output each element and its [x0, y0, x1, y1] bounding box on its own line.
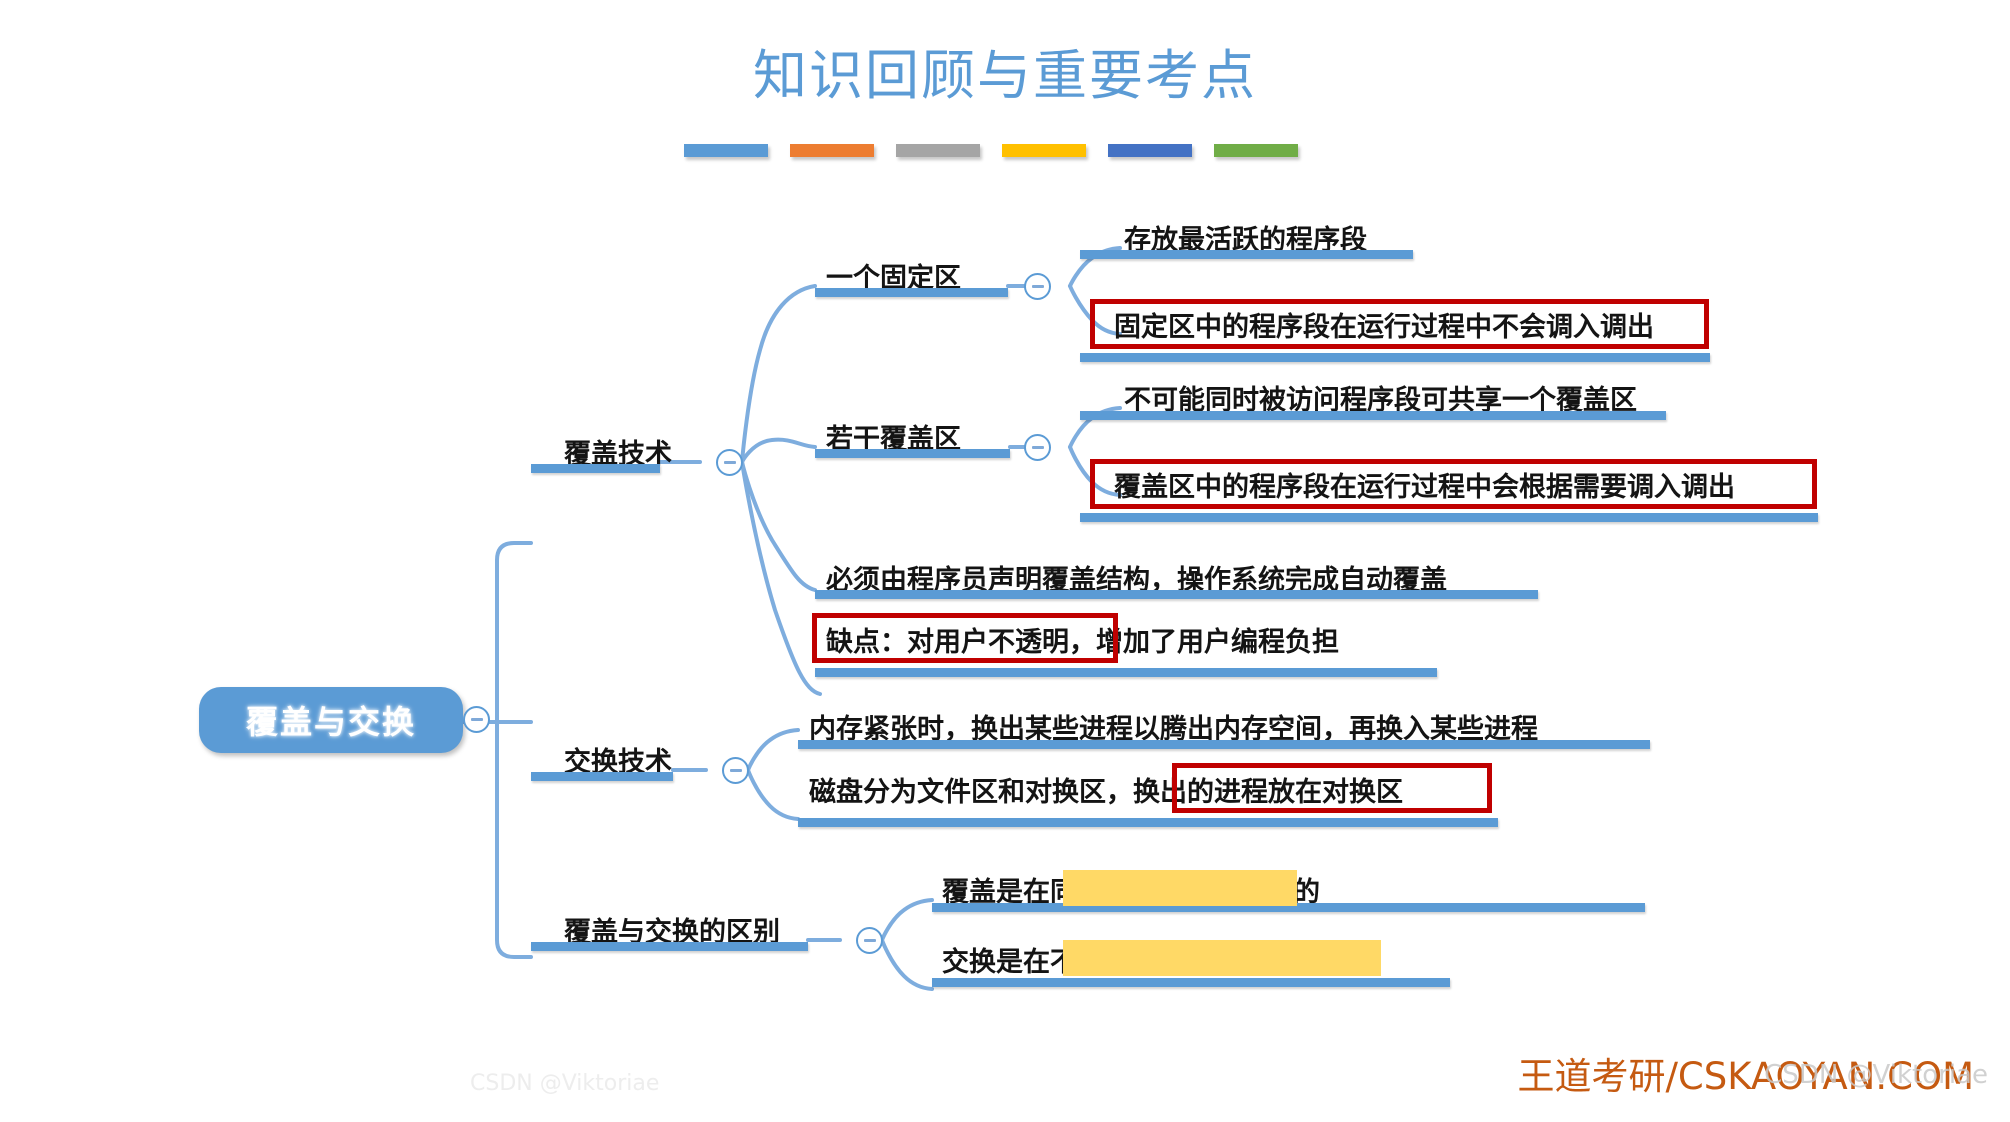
highlight-same-program — [1063, 870, 1297, 906]
emphasis-box-drawback — [812, 613, 1118, 663]
accent-bar-3 — [896, 144, 980, 157]
branch-collapse-toggle-overlay-tech[interactable] — [716, 449, 743, 476]
accent-bar-4 — [1002, 144, 1086, 157]
leaf-underline-store-active-segment — [1080, 250, 1413, 259]
accent-bar-group — [684, 144, 1298, 157]
branch-collapse-toggle-difference[interactable] — [856, 927, 883, 954]
accent-bar-5 — [1108, 144, 1192, 157]
leaf-underline-swap-different-process — [932, 978, 1450, 987]
minus-icon — [1032, 446, 1044, 449]
branch-collapse-toggle-swap-tech[interactable] — [722, 757, 749, 784]
root-node-label: 覆盖与交换 — [246, 697, 416, 743]
subnode-underline-programmer-declare — [815, 590, 1538, 599]
minus-icon — [864, 939, 876, 942]
subnode-collapse-toggle-fixed-area[interactable] — [1024, 273, 1051, 300]
branch-underline-swap-tech — [531, 772, 673, 781]
accent-bar-2 — [790, 144, 874, 157]
subnode-underline-overlay-areas — [815, 449, 1010, 458]
minus-icon — [471, 718, 483, 721]
slide-canvas: 知识回顾与重要考点 — [0, 0, 2010, 1122]
leaf-underline-disk-partition — [798, 818, 1498, 827]
leaf-underline-share-overlay-area — [1080, 411, 1666, 420]
leaf-underline-fixed-no-swap — [1080, 353, 1710, 362]
emphasis-box-overlay-swap-on-demand — [1090, 459, 1817, 509]
page-title: 知识回顾与重要考点 — [0, 46, 2010, 105]
branch-underline-overlay-tech — [531, 464, 660, 473]
leaf-underline-swap-out-in — [798, 740, 1650, 749]
root-collapse-toggle[interactable] — [463, 706, 490, 733]
emphasis-box-swap-area — [1172, 763, 1492, 813]
csdn-watermark: CSDN @Viktoriae — [1764, 1060, 1988, 1090]
minus-icon — [1032, 285, 1044, 288]
accent-bar-1 — [684, 144, 768, 157]
subnode-collapse-toggle-overlay-areas[interactable] — [1024, 434, 1051, 461]
highlight-different-process — [1063, 940, 1381, 976]
minus-icon — [730, 769, 742, 772]
root-node[interactable]: 覆盖与交换 — [199, 687, 463, 753]
branch-underline-difference — [531, 942, 808, 951]
subnode-underline-fixed-area — [815, 288, 1008, 297]
subnode-underline-drawback — [815, 668, 1437, 677]
emphasis-box-fixed-no-swap — [1090, 299, 1709, 349]
accent-bar-6 — [1214, 144, 1298, 157]
csdn-watermark-faint: CSDN @Viktoriae — [470, 1071, 659, 1096]
minus-icon — [724, 461, 736, 464]
leaf-underline-overlay-swap-on-demand — [1080, 513, 1818, 522]
